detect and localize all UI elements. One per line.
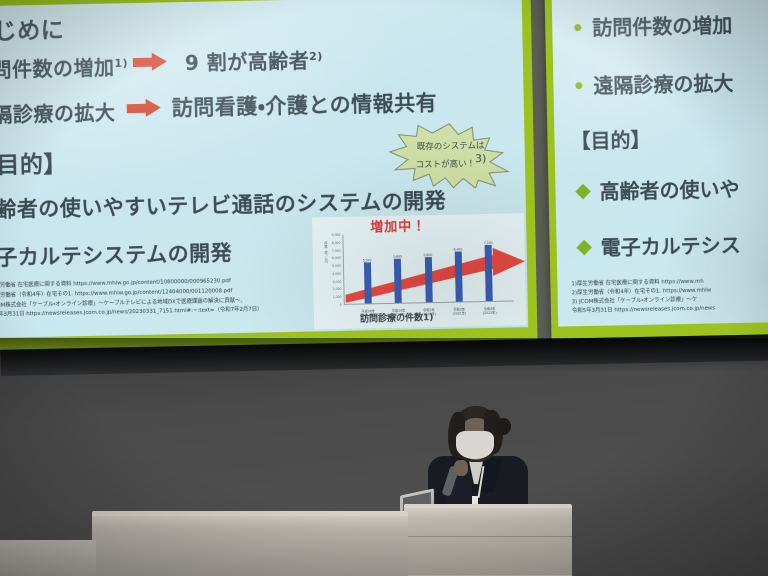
chart-y-tick: 6,000 xyxy=(332,256,341,260)
chart-plot-area: 件数（件／月） 01,0002,0003,0004,0005,0006,0007… xyxy=(342,231,513,304)
slide-heading: はじめに xyxy=(0,10,64,46)
bullet-visit-count-label: 訪問件数の増加 xyxy=(0,55,115,82)
bullet-telemedicine: 遠隔診療の拡大 xyxy=(0,96,116,128)
cost-callout-text: 既存のシステムは コストが高い！3) xyxy=(403,141,500,173)
footnote-ref-3: 3) xyxy=(475,152,487,165)
chart-bar-value: 5,800 xyxy=(423,253,432,257)
cost-callout-line2: コストが高い！ xyxy=(415,160,475,171)
chart-y-tick: 1,000 xyxy=(333,295,342,299)
footnote-ref-2: 2) xyxy=(309,50,323,63)
chart-x-axis-label: 訪問診療の件数1) xyxy=(360,310,434,324)
slide-left: はじめに 訪問件数の増加1) 9 割が高齢者2) 遠隔診療の拡大 訪問看護・介護… xyxy=(0,0,528,338)
chart-y-tick: 4,000 xyxy=(332,272,341,276)
chart-bar-value: 5,600 xyxy=(393,255,402,259)
elderly-ratio-label: 9 割が高齢者 xyxy=(185,49,310,75)
chart-y-tick: 8,000 xyxy=(332,241,341,245)
dot-bullet-icon xyxy=(575,82,582,89)
slide-right: 訪問件数の増加 遠隔診療の拡大 【目的】 高齢者の使いや 電子カルテシス 1)厚… xyxy=(552,0,768,327)
chart-y-tick: 3,000 xyxy=(332,280,341,284)
cost-callout-line1: 既存のシステムは xyxy=(417,141,485,152)
chart-bar-value: 7,200 xyxy=(484,241,493,245)
chart-x-tick: 令和4年(2022年) xyxy=(483,306,497,315)
conference-room-photo: はじめに 訪問件数の増加1) 9 割が高齢者2) 遠隔診療の拡大 訪問看護・介護… xyxy=(0,0,768,576)
chart-x-tick: 令和3年(2021年) xyxy=(452,307,466,316)
chart-bar xyxy=(424,257,432,302)
right-bullet-visit-count: 訪問件数の増加 xyxy=(592,9,733,41)
chart-y-tick: 0 xyxy=(340,303,342,307)
chart-bar-value: 6,400 xyxy=(454,248,463,252)
dot-bullet-icon xyxy=(574,24,581,31)
chart-y-tick: 9,000 xyxy=(331,233,340,237)
chart-bar xyxy=(485,245,493,301)
purpose-heading: 【目的】 xyxy=(0,144,67,180)
visit-count-chart: 増加中！ 件数（件／月） 01,0002,0003,0004,0005,0006… xyxy=(312,213,526,329)
footnote-ref-1: 1) xyxy=(114,57,128,70)
right-footnote-list: 1)厚生労働省 在宅医療に関する資料 https://www.mh2)厚生労働省… xyxy=(571,275,768,316)
chart-bar xyxy=(364,262,372,303)
right-arrow-icon xyxy=(133,52,167,71)
right-goal-1: 高齢者の使いや xyxy=(599,173,740,205)
chart-bar xyxy=(394,259,402,303)
projection-screen-left: はじめに 訪問件数の増加1) 9 割が高齢者2) 遠隔診療の拡大 訪問看護・介護… xyxy=(0,0,538,350)
right-purpose-heading: 【目的】 xyxy=(570,124,651,155)
chart-y-axis-label: 件数（件／月） xyxy=(316,241,326,265)
chart-y-tick: 2,000 xyxy=(333,287,342,291)
wall-shadow xyxy=(0,338,768,372)
face-mask xyxy=(456,431,494,459)
podium xyxy=(404,508,572,576)
right-arrow-icon xyxy=(127,99,161,118)
podium-seam xyxy=(404,536,572,537)
chart-annotation-increasing: 増加中！ xyxy=(370,215,426,235)
diamond-bullet-icon xyxy=(575,184,591,200)
cost-callout: 既存のシステムは コストが高い！3) xyxy=(386,121,513,190)
goal-2-label: 電子カルテシステムの開発 xyxy=(0,237,232,272)
diamond-bullet-icon xyxy=(576,240,592,256)
projection-screen-area: はじめに 訪問件数の増加1) 9 割が高齢者2) 遠隔診療の拡大 訪問看護・介護… xyxy=(0,0,768,350)
chart-y-tick: 7,000 xyxy=(332,248,341,252)
info-sharing-label: 訪問看護・介護との情報共有 xyxy=(171,87,437,122)
front-desk xyxy=(92,516,408,576)
chart-y-tick: 5,000 xyxy=(332,264,341,268)
presenter-hand xyxy=(454,460,468,476)
bullet-visit-count: 訪問件数の増加1) xyxy=(0,51,128,83)
footnote-list: 1)厚生労働省 在宅医療に関する資料 https://www.mhlw.go.j… xyxy=(0,276,284,321)
elderly-ratio: 9 割が高齢者2) xyxy=(185,44,324,76)
projection-screen-right: 訪問件数の増加 遠隔診療の拡大 【目的】 高齢者の使いや 電子カルテシス 1)厚… xyxy=(544,0,768,339)
chart-bar-value: 5,300 xyxy=(363,258,372,262)
right-bullet-telemedicine: 遠隔診療の拡大 xyxy=(593,67,734,99)
chart-bar xyxy=(455,252,463,302)
right-goal-2: 電子カルテシス xyxy=(600,229,741,261)
presenter-hair-bun xyxy=(496,418,511,435)
side-desk xyxy=(0,540,96,576)
